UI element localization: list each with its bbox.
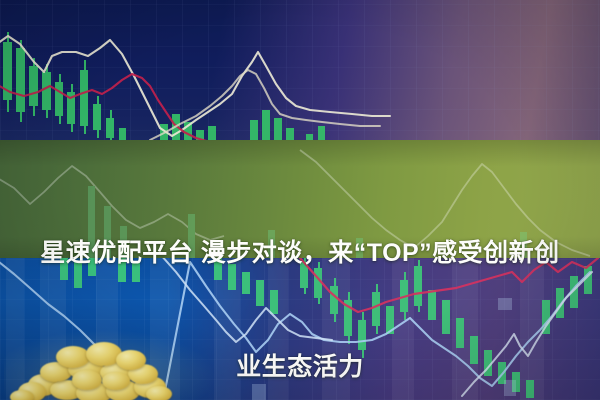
page-title: 星速优配平台 漫步对谈，来“TOP”感受创新创 业生态活力 (0, 158, 600, 400)
banner-image: 星速优配平台 漫步对谈，来“TOP”感受创新创 业生态活力 (0, 0, 600, 400)
page-title-line-2: 业生态活力 (14, 348, 586, 386)
page-title-line-1: 星速优配平台 漫步对谈，来“TOP”感受创新创 (14, 234, 586, 272)
